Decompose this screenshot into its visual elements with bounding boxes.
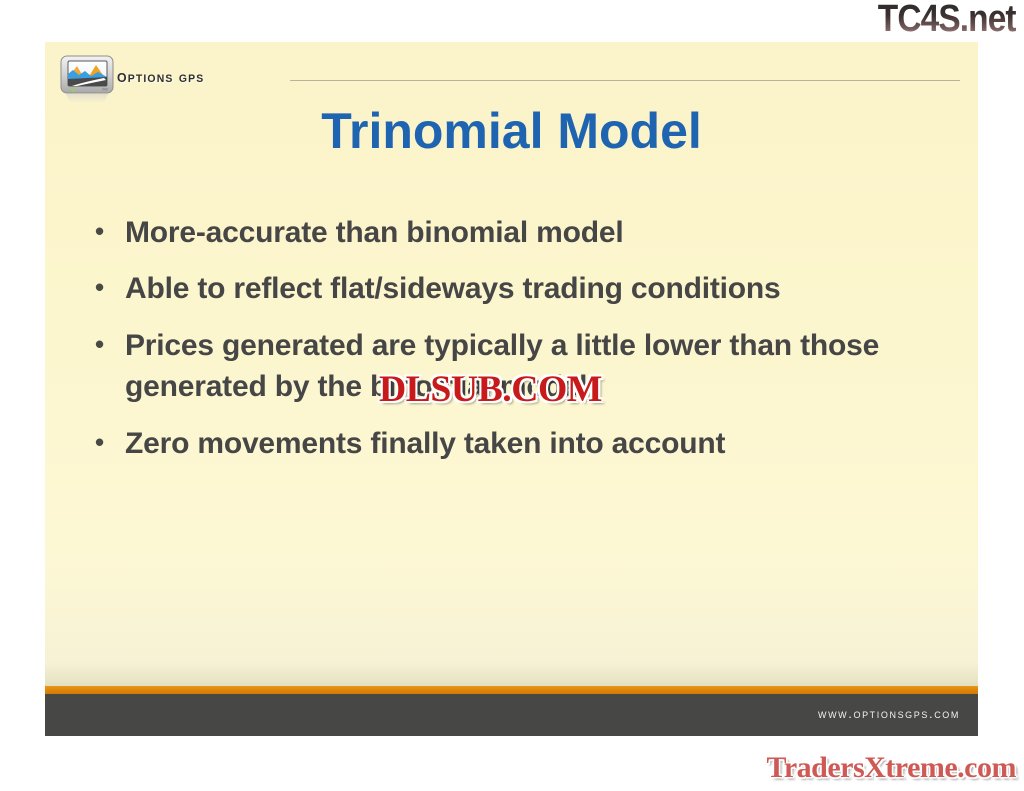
bullet-marker-icon: •	[95, 325, 125, 364]
list-item: • Zero movements finally taken into acco…	[95, 423, 958, 464]
header-divider-rule	[290, 80, 960, 81]
footer-accent-bar	[45, 686, 978, 694]
footer-website-url: www.OptionsGPS.com	[818, 706, 960, 721]
list-item-text: Prices generated are typically a little …	[125, 325, 955, 408]
presentation-slide: Options GPS Trinomial Model • More-accur…	[45, 42, 978, 736]
partner-brand-tradersxtreme: TradersXtreme.com	[767, 751, 1016, 785]
gps-device-icon	[58, 54, 116, 106]
bullet-marker-icon: •	[95, 423, 125, 462]
bullet-marker-icon: •	[95, 212, 125, 251]
slide-footer: www.OptionsGPS.com	[45, 694, 978, 736]
list-item: • Able to reflect flat/sideways trading …	[95, 268, 958, 309]
bullet-marker-icon: •	[95, 268, 125, 307]
slide-header: Options GPS	[45, 42, 978, 104]
list-item: • Prices generated are typically a littl…	[95, 325, 958, 408]
site-brand-tc4s: TC4S.net	[878, 0, 1016, 41]
slide-title: Trinomial Model	[45, 102, 978, 160]
list-item-text: More-accurate than binomial model	[125, 212, 955, 253]
brand-wordmark-options-gps: Options GPS	[117, 66, 204, 88]
bullet-list: • More-accurate than binomial model • Ab…	[95, 212, 958, 479]
list-item: • More-accurate than binomial model	[95, 212, 958, 253]
list-item-text: Able to reflect flat/sideways trading co…	[125, 268, 955, 309]
list-item-text: Zero movements finally taken into accoun…	[125, 423, 955, 464]
